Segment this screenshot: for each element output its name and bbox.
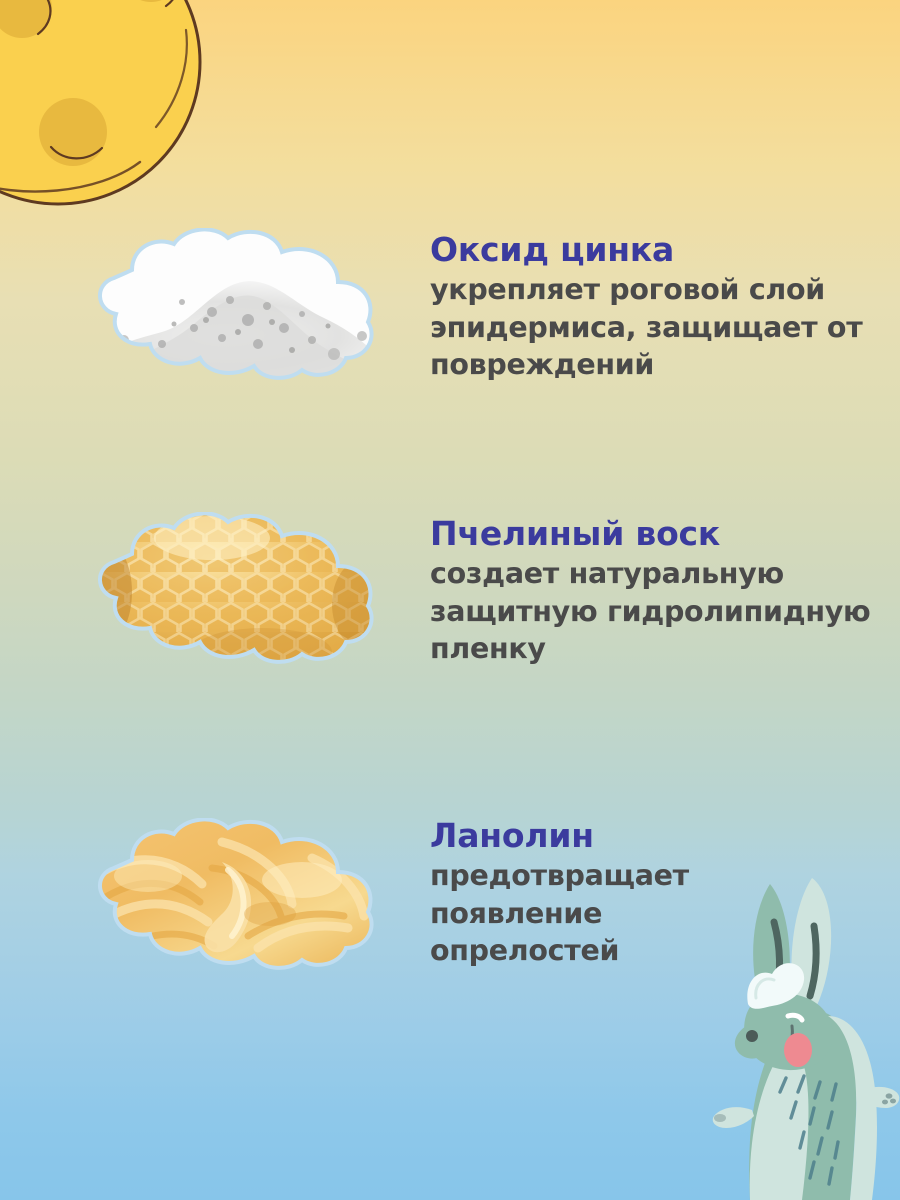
- ingredient-copy-beeswax: Пчелиный воск создает натуральную защитн…: [430, 512, 900, 668]
- poster-canvas: Оксид цинка укрепляет роговой слой эпиде…: [0, 0, 900, 1200]
- ingredient-image-lanolin: [62, 818, 392, 973]
- ingredient-title: Пчелиный воск: [430, 516, 900, 553]
- zinc-oxide-powder-photo: [62, 228, 392, 383]
- ingredient-title: Ланолин: [430, 818, 900, 855]
- beeswax-honeycomb-photo: [62, 512, 392, 667]
- ingredient-row-zinc-oxide: Оксид цинка укрепляет роговой слой эпиде…: [0, 228, 900, 384]
- moon-cheese-icon: [0, 0, 208, 212]
- lanolin-cream-photo: [62, 818, 392, 973]
- ingredient-copy-zinc-oxide: Оксид цинка укрепляет роговой слой эпиде…: [430, 228, 900, 384]
- ingredient-row-beeswax: Пчелиный воск создает натуральную защитн…: [0, 512, 900, 668]
- ingredient-image-zinc-oxide: [62, 228, 392, 383]
- ingredient-title: Оксид цинка: [430, 232, 900, 269]
- bunny-character-icon: [686, 870, 900, 1200]
- ingredient-description: укрепляет роговой слой эпидермиса, защищ…: [430, 271, 880, 384]
- moon-cheese-decoration: [0, 0, 208, 212]
- ingredient-description: предотвращает появление опрелостей: [430, 857, 730, 970]
- bunny-decoration: [686, 870, 900, 1200]
- ingredient-image-beeswax: [62, 512, 392, 667]
- ingredient-description: создает натуральную защитную гидролипидн…: [430, 555, 890, 668]
